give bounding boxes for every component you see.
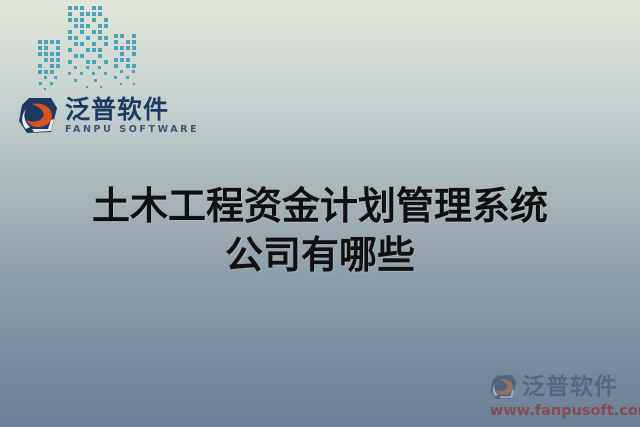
brand-logo: 泛普软件 FANPU SOFTWARE xyxy=(18,96,199,136)
fanpu-logo-icon xyxy=(18,96,58,136)
page-title: 土木工程资金计划管理系统 公司有哪些 xyxy=(0,182,640,280)
brand-name-en: FANPU SOFTWARE xyxy=(65,125,199,135)
watermark-name-cn: 泛普软件 xyxy=(522,376,618,399)
watermark-logo-row: 泛普软件 xyxy=(490,374,634,401)
page-title-line-1: 土木工程资金计划管理系统 xyxy=(0,182,640,231)
brand-wordmark: 泛普软件 FANPU SOFTWARE xyxy=(65,97,199,135)
watermark-fanpu-logo-icon xyxy=(490,374,517,401)
poster-canvas: 泛普软件 FANPU SOFTWARE 土木工程资金计划管理系统 公司有哪些 泛… xyxy=(0,0,640,427)
pixel-skyline-decoration xyxy=(34,0,144,92)
watermark: 泛普软件 www.fanpusoft.com xyxy=(490,374,634,419)
brand-name-cn: 泛普软件 xyxy=(65,97,199,122)
page-title-line-2: 公司有哪些 xyxy=(0,231,640,280)
watermark-url: www.fanpusoft.com xyxy=(490,403,634,419)
skyline-icon xyxy=(34,0,144,92)
